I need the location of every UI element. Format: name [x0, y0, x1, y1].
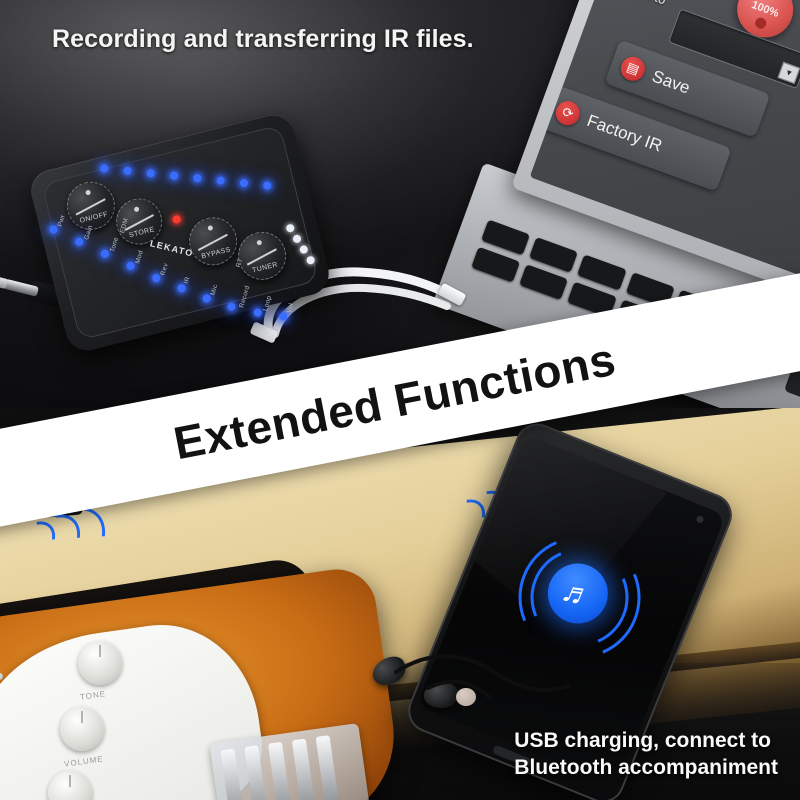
brand-logo-top: LEKATO — [149, 238, 195, 258]
bridge-saddle — [268, 742, 292, 800]
save-disk-icon: ▤ — [618, 53, 649, 84]
label-ir: IR — [183, 276, 192, 285]
factory-ir-button-label: Factory IR — [584, 111, 665, 157]
status-led — [193, 173, 203, 183]
tuner-led — [299, 245, 309, 255]
status-led — [239, 178, 249, 188]
label-mic: Mic — [210, 284, 220, 297]
status-led — [262, 181, 272, 191]
knob-cap — [207, 225, 213, 231]
status-led — [99, 164, 109, 174]
function-led — [177, 283, 187, 293]
label-record: Record — [238, 285, 251, 309]
page-headline: Recording and transferring IR files. — [52, 25, 474, 54]
bridge-saddle — [244, 745, 268, 800]
knob-bypass[interactable]: BYPASS — [184, 212, 242, 270]
refresh-icon: ⟳ — [552, 98, 583, 129]
electric-guitar: TONE VOLUME — [0, 583, 430, 800]
tuner-led — [306, 255, 316, 265]
label-tone: Tone — [109, 236, 120, 253]
guitar-knob-tone[interactable] — [60, 707, 104, 751]
label-mod: Mod — [134, 250, 144, 265]
function-led — [151, 273, 161, 283]
save-button-label: Save — [649, 67, 692, 99]
label-rev: Rev — [160, 262, 170, 276]
knob-tuner[interactable]: TUNER — [233, 227, 291, 285]
bottom-caption: USB charging, connect to Bluetooth accom… — [514, 728, 778, 782]
caption-line-1: USB charging, connect to — [514, 728, 778, 755]
status-led — [169, 171, 179, 181]
knob-cap — [256, 240, 262, 246]
function-led — [202, 294, 212, 304]
bridge-saddle — [292, 738, 316, 800]
product-marketing-image: Device 100% Import to ▼ ▤ Save ⟳ — [0, 0, 800, 800]
status-led — [123, 166, 133, 176]
bridge-saddle — [220, 748, 244, 800]
music-note-glyph: ♬ — [558, 574, 598, 614]
status-led — [146, 168, 156, 178]
earbud-cable — [390, 646, 570, 726]
label-pwr: Pwr — [57, 214, 67, 228]
record-indicator-led — [172, 215, 182, 225]
battery-percent-label: 100% — [750, 0, 781, 20]
keycap — [471, 247, 520, 283]
function-led — [49, 225, 59, 235]
knob-cap — [85, 190, 91, 196]
knob-cap — [134, 206, 140, 212]
tuner-led — [285, 223, 295, 233]
chevron-down-icon[interactable]: ▼ — [778, 62, 800, 84]
tuner-led — [292, 234, 302, 244]
function-led — [227, 302, 237, 312]
status-led — [216, 176, 226, 186]
import-to-label: Import to — [615, 0, 668, 7]
keycap — [519, 264, 568, 300]
caption-line-2: Bluetooth accompaniment — [514, 755, 778, 782]
battery-indicator-dot — [754, 16, 768, 30]
bridge-saddle — [316, 735, 340, 800]
guitar-knob-upper[interactable] — [78, 641, 122, 685]
